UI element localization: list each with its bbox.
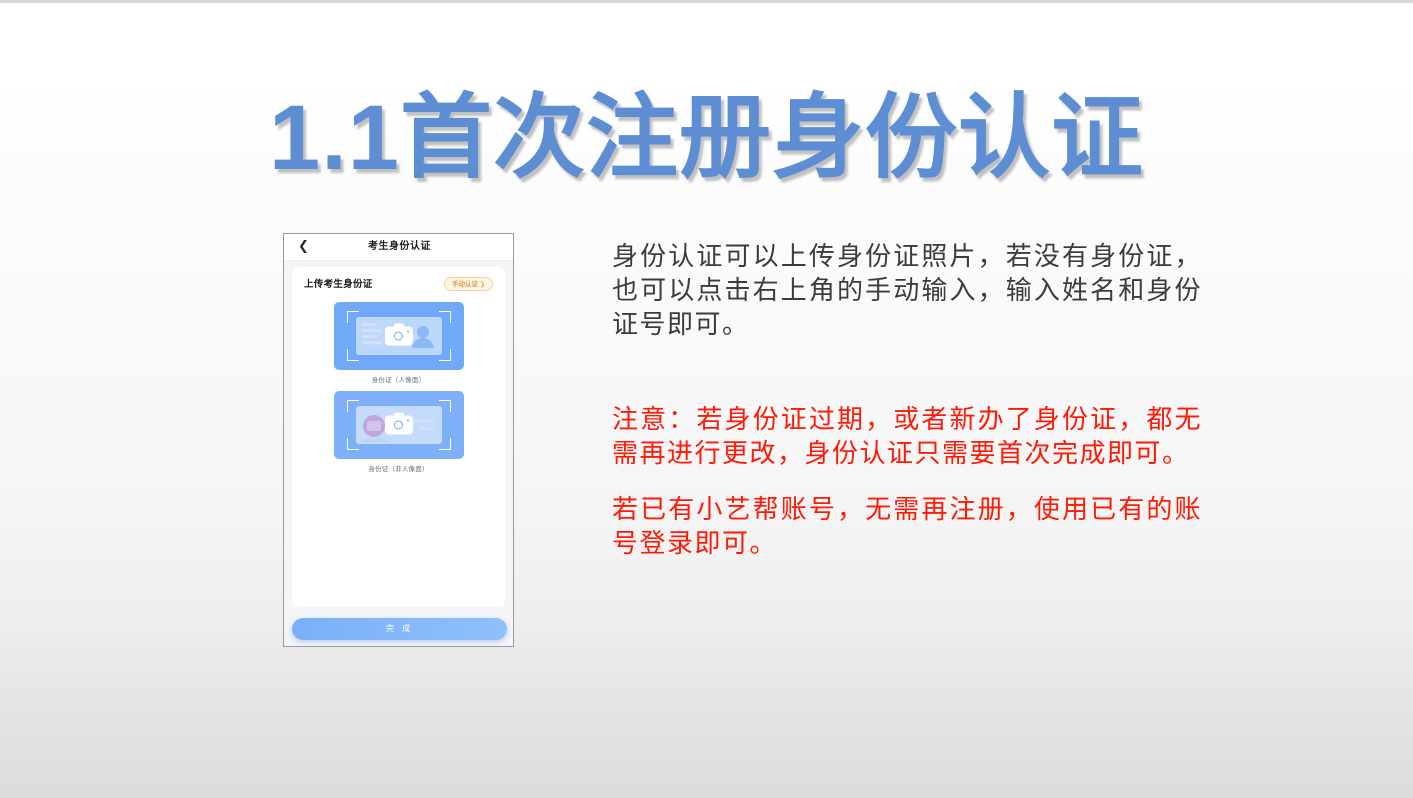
scan-bracket-icon bbox=[439, 349, 451, 361]
phone-navigation-bar: ❮ 考生身份认证 bbox=[284, 234, 513, 261]
page-title: 1.1首次注册身份认证 bbox=[0, 82, 1413, 194]
top-edge-divider bbox=[0, 0, 1413, 3]
id-back-caption: 身份证（非人像面） bbox=[302, 465, 495, 475]
card-id-number-line bbox=[362, 348, 436, 351]
scan-bracket-icon bbox=[347, 400, 359, 412]
id-front-thumbnail[interactable] bbox=[334, 302, 464, 370]
scan-bracket-icon bbox=[347, 349, 359, 361]
slide-canvas: 1.1首次注册身份认证 ❮ 考生身份认证 上传考生身份证 手动认证❯ bbox=[0, 0, 1413, 798]
portrait-photo-icon bbox=[410, 323, 436, 348]
phone-screenshot-frame: ❮ 考生身份认证 上传考生身份证 手动认证❯ bbox=[283, 233, 514, 647]
phone-content-area: 上传考生身份证 手动认证❯ bbox=[284, 261, 513, 647]
manual-verify-button[interactable]: 手动认证❯ bbox=[444, 277, 493, 291]
card-text-line bbox=[362, 323, 377, 326]
card-text-line bbox=[420, 427, 434, 430]
national-emblem-icon bbox=[363, 415, 385, 437]
id-front-caption: 身份证（人像面） bbox=[302, 376, 495, 386]
scan-bracket-icon bbox=[439, 438, 451, 450]
id-upload-slot-back[interactable]: 身份证（非人像面） bbox=[302, 391, 495, 475]
upload-id-card-panel: 上传考生身份证 手动认证❯ bbox=[292, 267, 505, 607]
card-text-line bbox=[363, 439, 387, 442]
card-text-line bbox=[362, 335, 377, 338]
card-text-line bbox=[412, 420, 434, 423]
scan-bracket-icon bbox=[439, 311, 451, 323]
paragraph-note: 注意：若身份证过期，或者新办了身份证，都无需再进行更改，身份认证只需要首次完成即… bbox=[612, 403, 1202, 471]
card-text-line bbox=[362, 341, 382, 344]
scan-bracket-icon bbox=[439, 400, 451, 412]
chevron-right-icon: ❯ bbox=[480, 282, 485, 288]
manual-verify-label: 手动认证 bbox=[452, 281, 478, 288]
id-upload-slot-front[interactable]: 身份证（人像面） bbox=[302, 302, 495, 386]
scan-bracket-icon bbox=[347, 438, 359, 450]
paragraph-account: 若已有小艺帮账号，无需再注册，使用已有的账号登录即可。 bbox=[612, 493, 1202, 561]
explanation-text-block: 身份认证可以上传身份证照片，若没有身份证，也可以点击右上角的手动输入，输入姓名和… bbox=[612, 240, 1202, 561]
upload-section-title: 上传考生身份证 bbox=[304, 277, 373, 293]
phone-nav-title: 考生身份认证 bbox=[284, 239, 514, 255]
card-text-line bbox=[362, 329, 382, 332]
upload-card-header: 上传考生身份证 手动认证❯ bbox=[302, 277, 495, 297]
camera-icon bbox=[385, 416, 413, 435]
id-back-thumbnail[interactable] bbox=[334, 391, 464, 459]
camera-icon bbox=[385, 327, 413, 346]
paragraph-main: 身份认证可以上传身份证照片，若没有身份证，也可以点击右上角的手动输入，输入姓名和… bbox=[612, 240, 1202, 342]
finish-button[interactable]: 完 成 bbox=[292, 618, 507, 640]
scan-bracket-icon bbox=[347, 311, 359, 323]
